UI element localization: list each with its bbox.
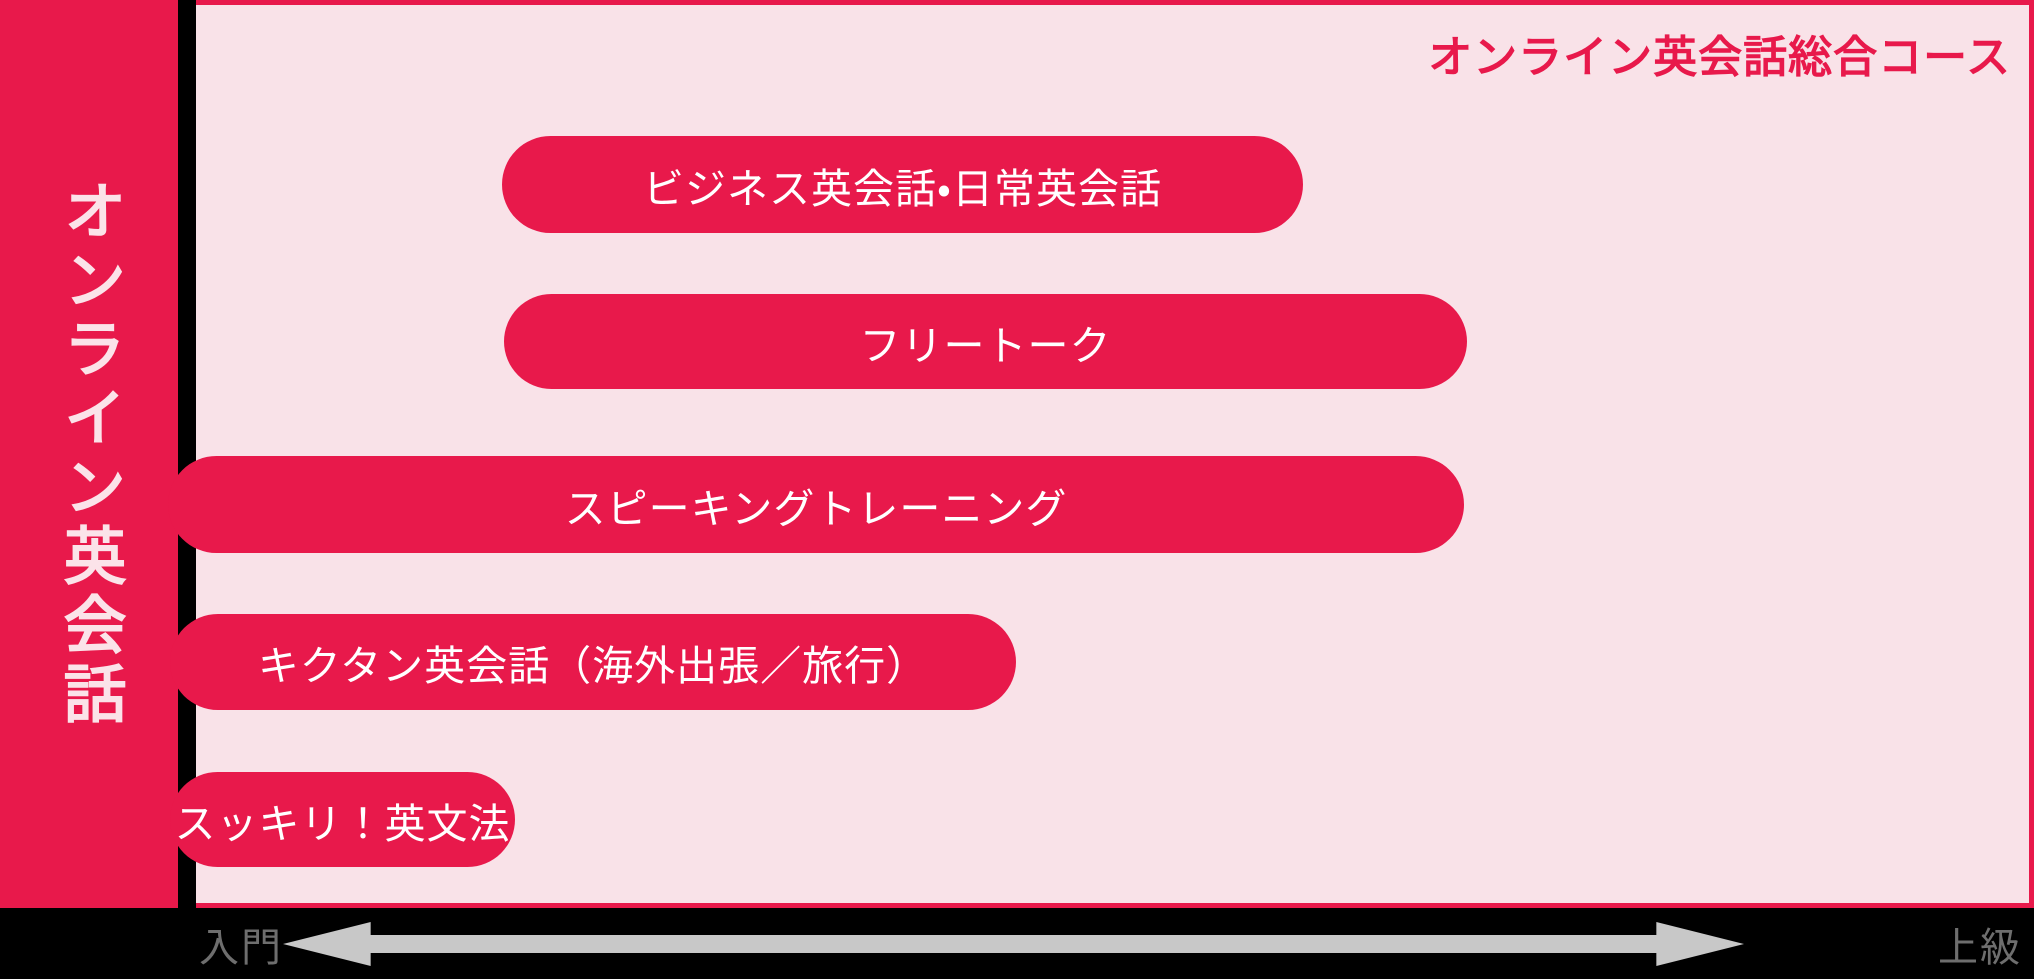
course-pill-label: スピーキングトレーニング [565, 475, 1068, 535]
course-pill-speaking-training[interactable]: スピーキングトレーニング [168, 456, 1464, 553]
course-pill-business-daily[interactable]: ビジネス英会話・日常英会話 [502, 136, 1303, 233]
course-pill-label: スッキリ！英文法 [175, 790, 511, 850]
course-pill-label: ビジネス英会話・日常英会話 [643, 155, 1162, 215]
course-pill-grammar[interactable]: スッキリ！英文法 [170, 772, 515, 867]
axis-label-advanced: 上級 [1938, 915, 2022, 973]
double-headed-arrow-icon [283, 920, 1744, 968]
level-axis: 入門 上級 [0, 908, 2034, 979]
course-level-diagram: オンライン英会話 オンライン英会話総合コース ビジネス英会話・日常英会話 フリー… [0, 0, 2034, 979]
course-pill-kikutan[interactable]: キクタン英会話（海外出張／旅行） [170, 614, 1016, 710]
axis-label-beginner: 入門 [199, 915, 283, 973]
course-panel: オンライン英会話総合コース ビジネス英会話・日常英会話 フリートーク スピーキン… [196, 0, 2034, 908]
sidebar-category-label: オンライン英会話 [58, 178, 121, 730]
course-pill-free-talk[interactable]: フリートーク [504, 294, 1467, 389]
page-title: オンライン英会話総合コース [1428, 21, 2011, 85]
course-pill-label: フリートーク [860, 312, 1112, 372]
sidebar-category-online-english: オンライン英会話 [0, 0, 178, 908]
course-pill-label: キクタン英会話（海外出張／旅行） [258, 632, 928, 692]
